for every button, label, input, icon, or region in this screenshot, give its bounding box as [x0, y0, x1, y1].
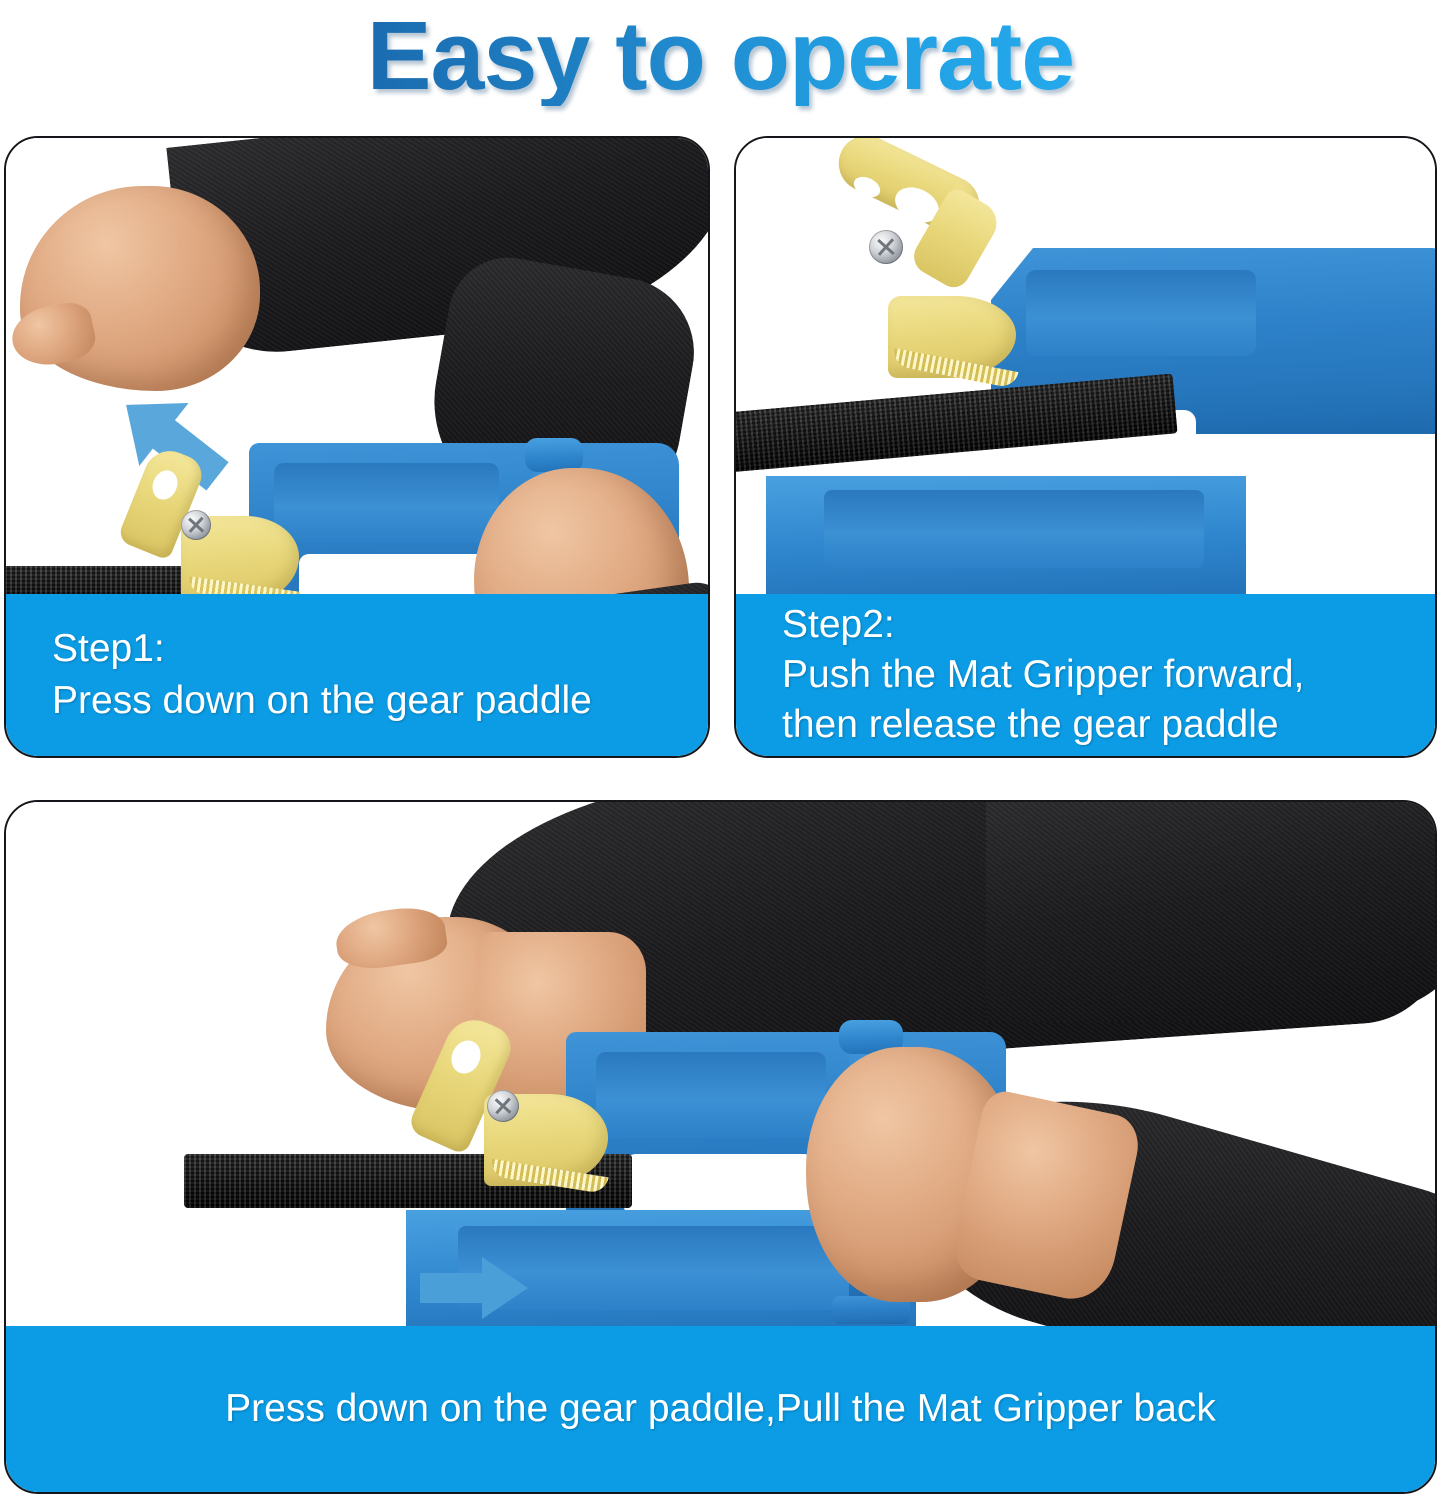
- tool-handle-cap: [525, 438, 583, 472]
- upper-sleeve-extend: [986, 802, 1435, 1022]
- step-1-caption: Step1: Press down on the gear paddle: [6, 594, 708, 756]
- step-2-caption-line-2: Push the Mat Gripper forward,: [782, 650, 1435, 700]
- step-1-caption-line-2: Press down on the gear paddle: [52, 675, 708, 727]
- step-1-panel: Step1: Press down on the gear paddle: [4, 136, 710, 758]
- tool-body-inset: [596, 1052, 826, 1138]
- step-3-caption: Press down on the gear paddle,Pull the M…: [6, 1326, 1435, 1492]
- tool-body-inset: [274, 463, 499, 543]
- pivot-screw: [181, 510, 211, 540]
- tool-body-window: [299, 554, 499, 598]
- step-2-photo: [736, 138, 1435, 598]
- step-2-caption: Step2: Push the Mat Gripper forward, the…: [736, 594, 1435, 756]
- step-1-photo: [6, 138, 708, 598]
- step-2-caption-line-3: then release the gear paddle: [782, 700, 1435, 750]
- step-3-panel: Press down on the gear paddle,Pull the M…: [4, 800, 1437, 1494]
- step-2-panel: Step2: Push the Mat Gripper forward, the…: [734, 136, 1437, 758]
- page-title: Easy to operate: [367, 6, 1074, 106]
- title-bar: Easy to operate: [0, 0, 1441, 112]
- step-1-caption-line-1: Step1:: [52, 623, 708, 675]
- tool-nose-inset: [824, 490, 1204, 568]
- tool-body-window: [624, 1154, 816, 1218]
- tool-body-inset: [1026, 270, 1256, 356]
- step-3-photo: [6, 802, 1435, 1330]
- pull-back-arrow-shape: [420, 1257, 530, 1319]
- pivot-screw: [869, 230, 903, 264]
- step-2-caption-line-1: Step2:: [782, 600, 1435, 650]
- step-3-caption-line-1: Press down on the gear paddle,Pull the M…: [225, 1384, 1216, 1434]
- pivot-screw: [487, 1090, 519, 1122]
